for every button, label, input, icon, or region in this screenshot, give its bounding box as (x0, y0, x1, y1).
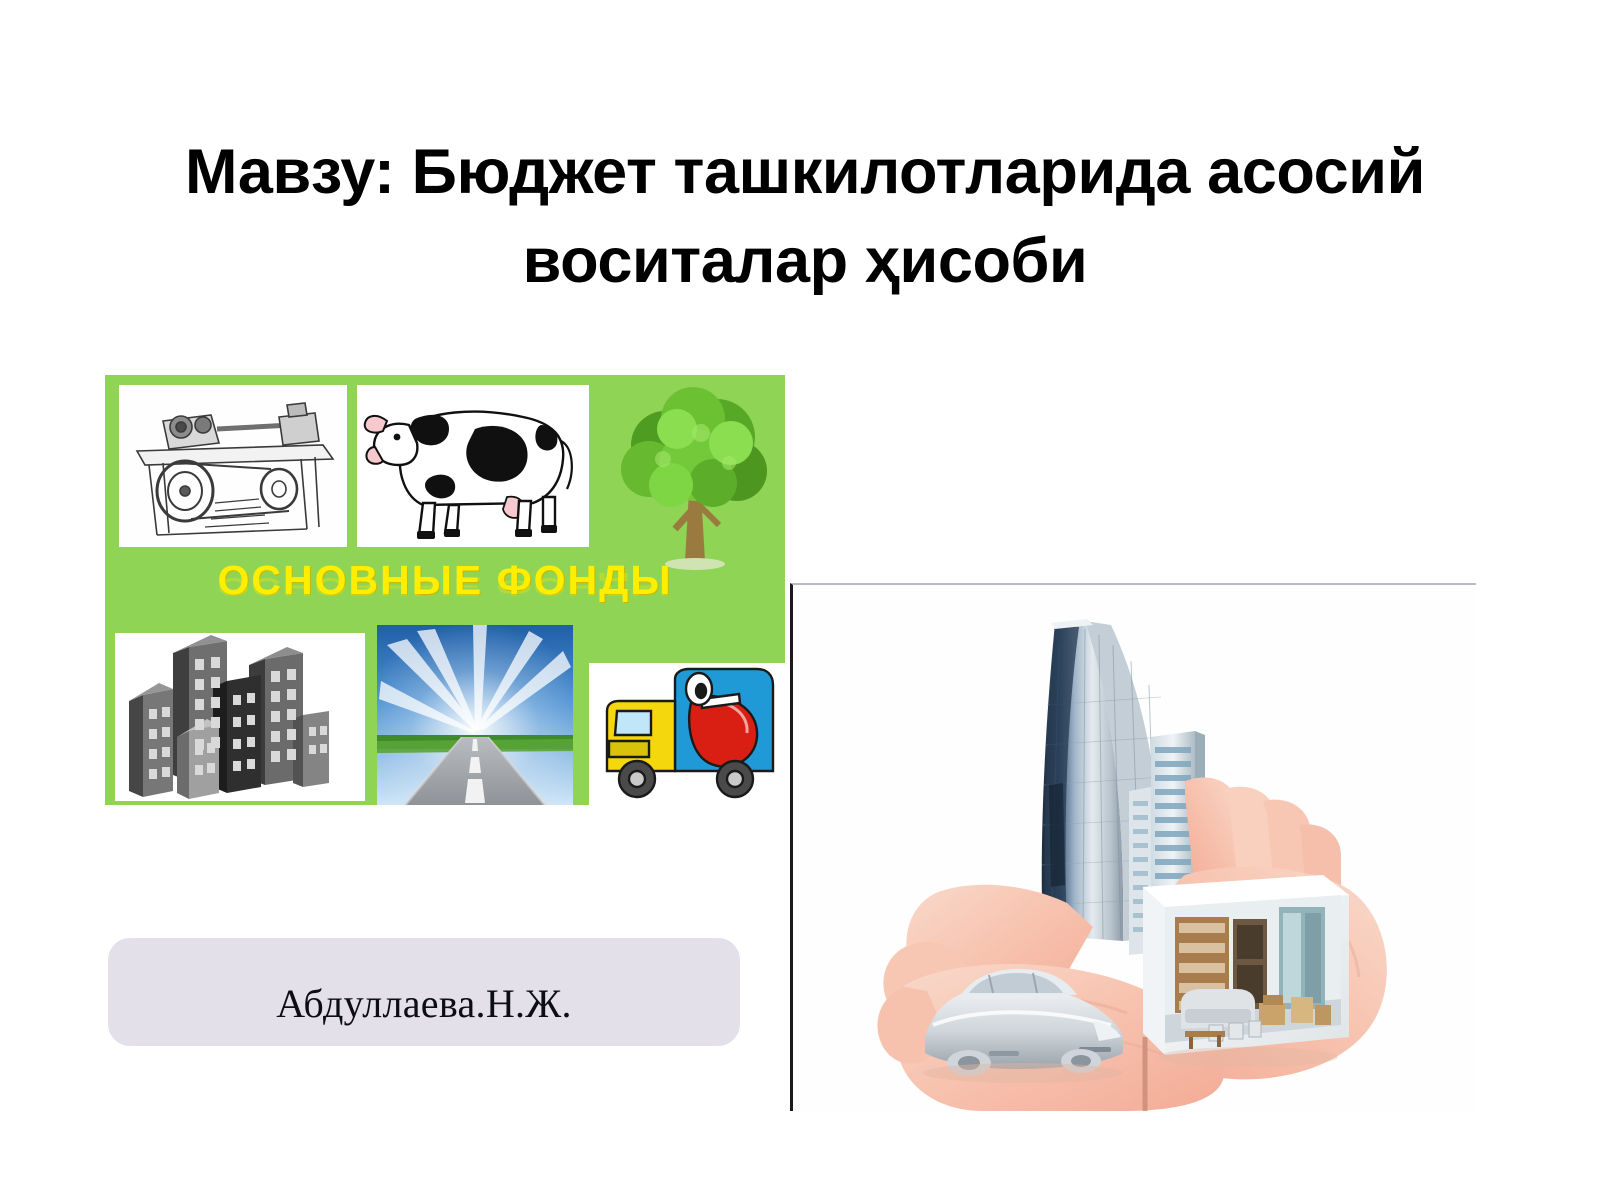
collage-cell-road (377, 625, 573, 805)
page-title: Мавзу: Бюджет ташкилотларида асосий воси… (100, 128, 1510, 307)
collage-cell-cow (357, 385, 589, 547)
collage-inner: ОСНОВНЫЕ ФОНДЫ ОСНОВНЫЕ ФОНДЫ (105, 375, 785, 805)
author-name: Абдуллаева.Н.Ж. (276, 980, 572, 1027)
road-icon (377, 625, 573, 805)
hands-holding-assets-illustration (793, 585, 1476, 1111)
cow-icon (357, 385, 589, 547)
fixed-assets-collage-image: ОСНОВНЫЕ ФОНДЫ ОСНОВНЫЕ ФОНДЫ (105, 375, 785, 805)
truck-icon (589, 663, 785, 805)
collage-cell-machine (119, 385, 347, 547)
author-name-box: Абдуллаева.Н.Ж. (108, 938, 740, 1046)
hands-holding-assets-photo (790, 583, 1476, 1111)
collage-cell-tree (605, 379, 785, 579)
buildings-icon (115, 633, 365, 801)
page-title-line-1: Мавзу: Бюджет ташкилотларида асосий (100, 128, 1510, 217)
collage-cell-buildings (115, 633, 365, 801)
collage-caption-reflection: ОСНОВНЫЕ ФОНДЫ (105, 572, 785, 601)
page-title-line-2: воситалар ҳисоби (100, 217, 1510, 306)
collage-cell-truck (589, 663, 785, 805)
tree-icon (605, 379, 785, 579)
machine-icon (119, 385, 347, 547)
